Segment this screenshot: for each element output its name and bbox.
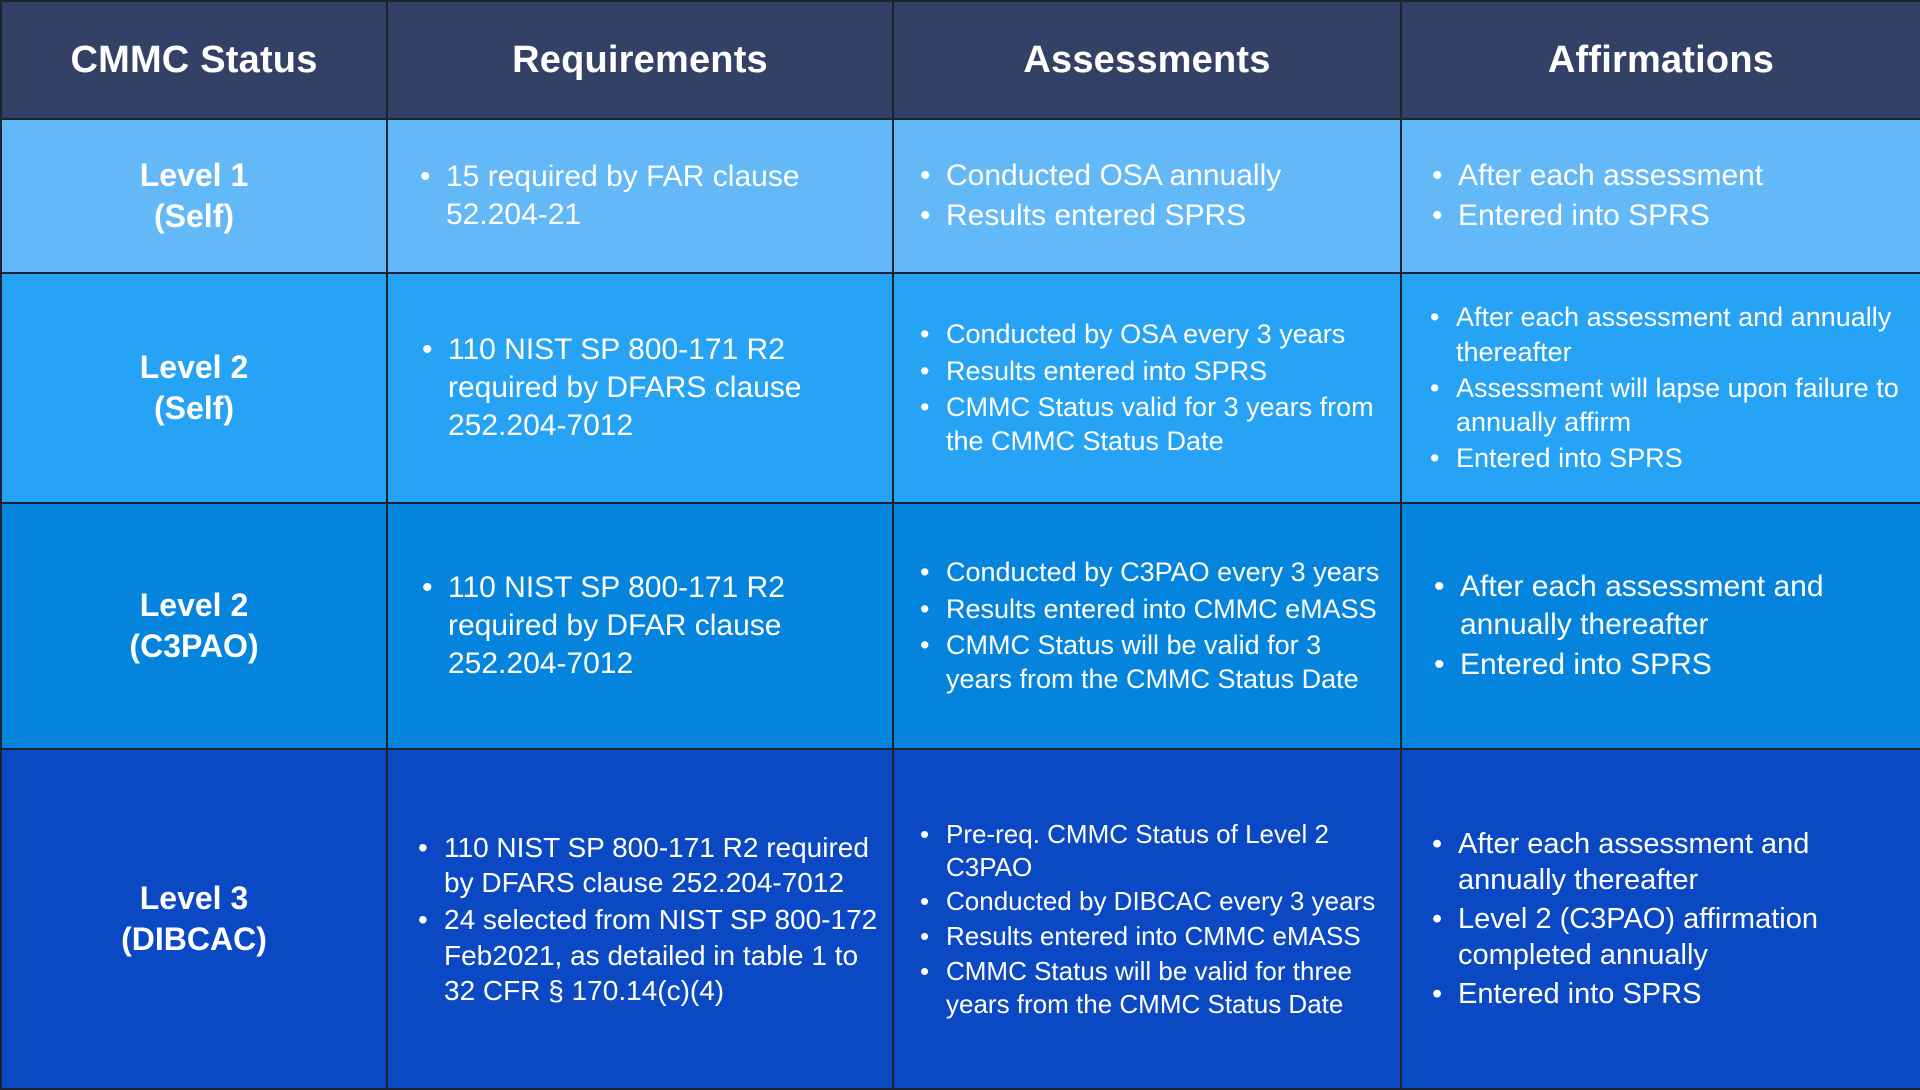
- assessments-list: Conducted by OSA every 3 years Results e…: [894, 317, 1400, 458]
- list-item: After each assessment and annually there…: [1454, 300, 1910, 369]
- list-item: CMMC Status will be valid for 3 years fr…: [944, 628, 1390, 697]
- table-header: CMMC Status Requirements Assessments Aff…: [1, 1, 1920, 119]
- list-item: Assessment will lapse upon failure to an…: [1454, 371, 1910, 440]
- list-item: Entered into SPRS: [1456, 197, 1910, 235]
- list-item: CMMC Status valid for 3 years from the C…: [944, 390, 1390, 459]
- list-item: After each assessment and annually there…: [1456, 826, 1910, 899]
- assessments-cell-level-3-dibcac: Pre-req. CMMC Status of Level 2 C3PAO Co…: [893, 749, 1401, 1089]
- status-level-label: Level 2: [2, 585, 386, 626]
- column-header-assessments: Assessments: [893, 1, 1401, 119]
- status-cell-level-3-dibcac: Level 3 (DIBCAC): [1, 749, 387, 1089]
- affirmations-list: After each assessment and annually there…: [1402, 568, 1920, 684]
- assessments-cell-level-2-c3pao: Conducted by C3PAO every 3 years Results…: [893, 503, 1401, 749]
- requirements-cell-level-1: 15 required by FAR clause 52.204-21: [387, 119, 893, 273]
- list-item: Conducted by C3PAO every 3 years: [944, 555, 1390, 589]
- assessments-list: Conducted OSA annually Results entered S…: [894, 157, 1400, 235]
- list-item: Entered into SPRS: [1456, 976, 1910, 1013]
- requirements-list: 110 NIST SP 800-171 R2 required by DFARS…: [388, 331, 892, 445]
- list-item: Conducted by OSA every 3 years: [944, 317, 1390, 351]
- column-header-cmmc-status: CMMC Status: [1, 1, 387, 119]
- requirements-cell-level-2-c3pao: 110 NIST SP 800-171 R2 required by DFAR …: [387, 503, 893, 749]
- assessments-list: Pre-req. CMMC Status of Level 2 C3PAO Co…: [894, 818, 1400, 1021]
- column-header-requirements: Requirements: [387, 1, 893, 119]
- column-header-affirmations: Affirmations: [1401, 1, 1920, 119]
- table-row: Level 1 (Self) 15 required by FAR clause…: [1, 119, 1920, 273]
- table-body: Level 1 (Self) 15 required by FAR clause…: [1, 119, 1920, 1089]
- status-level-label: Level 1: [2, 155, 386, 196]
- list-item: After each assessment and annually there…: [1458, 568, 1910, 644]
- list-item: Results entered into CMMC eMASS: [944, 920, 1390, 953]
- list-item: Pre-req. CMMC Status of Level 2 C3PAO: [944, 818, 1390, 884]
- cmmc-status-table: CMMC Status Requirements Assessments Aff…: [0, 0, 1920, 1090]
- list-item: After each assessment: [1456, 157, 1910, 195]
- assessments-cell-level-1: Conducted OSA annually Results entered S…: [893, 119, 1401, 273]
- requirements-list: 15 required by FAR clause 52.204-21: [388, 158, 892, 234]
- status-type-label: (Self): [2, 388, 386, 429]
- affirmations-cell-level-3-dibcac: After each assessment and annually there…: [1401, 749, 1920, 1089]
- requirements-list: 110 NIST SP 800-171 R2 required by DFARS…: [388, 830, 892, 1008]
- list-item: Conducted OSA annually: [944, 157, 1390, 195]
- affirmations-cell-level-2-c3pao: After each assessment and annually there…: [1401, 503, 1920, 749]
- list-item: 24 selected from NIST SP 800-172 Feb2021…: [442, 902, 882, 1008]
- status-cell-level-2-c3pao: Level 2 (C3PAO): [1, 503, 387, 749]
- affirmations-cell-level-1: After each assessment Entered into SPRS: [1401, 119, 1920, 273]
- status-type-label: (DIBCAC): [2, 919, 386, 960]
- list-item: 110 NIST SP 800-171 R2 required by DFARS…: [446, 331, 882, 445]
- status-type-label: (C3PAO): [2, 626, 386, 667]
- affirmations-cell-level-2-self: After each assessment and annually there…: [1401, 273, 1920, 503]
- list-item: Entered into SPRS: [1454, 441, 1910, 475]
- assessments-cell-level-2-self: Conducted by OSA every 3 years Results e…: [893, 273, 1401, 503]
- list-item: Results entered into CMMC eMASS: [944, 592, 1390, 626]
- status-cell-level-1: Level 1 (Self): [1, 119, 387, 273]
- table-row: Level 2 (Self) 110 NIST SP 800-171 R2 re…: [1, 273, 1920, 503]
- status-type-label: (Self): [2, 196, 386, 237]
- list-item: 110 NIST SP 800-171 R2 required by DFAR …: [446, 569, 882, 683]
- header-row: CMMC Status Requirements Assessments Aff…: [1, 1, 1920, 119]
- table-row: Level 3 (DIBCAC) 110 NIST SP 800-171 R2 …: [1, 749, 1920, 1089]
- table-row: Level 2 (C3PAO) 110 NIST SP 800-171 R2 r…: [1, 503, 1920, 749]
- assessments-list: Conducted by C3PAO every 3 years Results…: [894, 555, 1400, 696]
- list-item: Level 2 (C3PAO) affirmation completed an…: [1456, 901, 1910, 974]
- list-item: Entered into SPRS: [1458, 646, 1910, 684]
- list-item: 15 required by FAR clause 52.204-21: [444, 158, 882, 234]
- requirements-cell-level-2-self: 110 NIST SP 800-171 R2 required by DFARS…: [387, 273, 893, 503]
- status-cell-level-2-self: Level 2 (Self): [1, 273, 387, 503]
- list-item: Results entered into SPRS: [944, 354, 1390, 388]
- status-level-label: Level 2: [2, 347, 386, 388]
- status-level-label: Level 3: [2, 878, 386, 919]
- list-item: Conducted by DIBCAC every 3 years: [944, 885, 1390, 918]
- list-item: Results entered SPRS: [944, 197, 1390, 235]
- list-item: CMMC Status will be valid for three year…: [944, 955, 1390, 1021]
- requirements-cell-level-3-dibcac: 110 NIST SP 800-171 R2 required by DFARS…: [387, 749, 893, 1089]
- affirmations-list: After each assessment and annually there…: [1402, 826, 1920, 1013]
- affirmations-list: After each assessment and annually there…: [1402, 300, 1920, 475]
- requirements-list: 110 NIST SP 800-171 R2 required by DFAR …: [388, 569, 892, 683]
- affirmations-list: After each assessment Entered into SPRS: [1402, 157, 1920, 235]
- list-item: 110 NIST SP 800-171 R2 required by DFARS…: [442, 830, 882, 901]
